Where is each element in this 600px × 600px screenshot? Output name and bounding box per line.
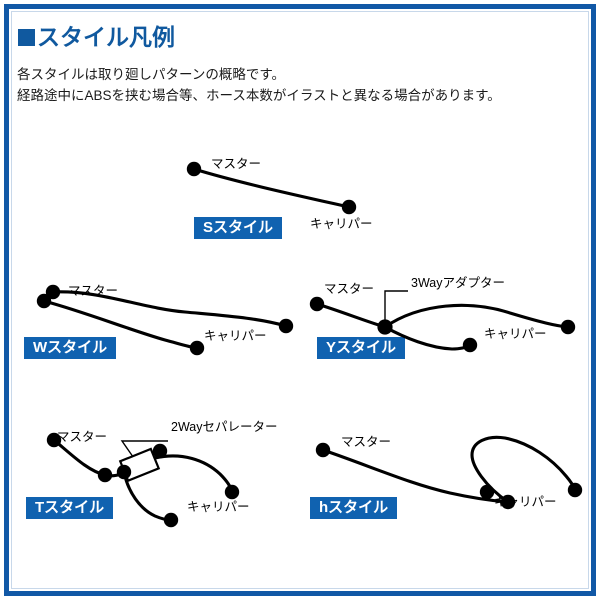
t-style-separator-label: 2Wayセパレーター	[171, 421, 278, 434]
description-line-2: 経路途中にABSを挟む場合等、ホース本数がイラストと異なる場合があります。	[17, 89, 501, 103]
s-style-caliper-label: キャリパー	[310, 218, 373, 231]
y-style-adapter-leader-line	[385, 291, 408, 327]
badge-s-style: Sスタイル	[194, 217, 282, 239]
badge-y-style: Yスタイル	[317, 337, 405, 359]
s-style-hose-1	[194, 169, 349, 207]
t-style-master-label: マスター	[57, 431, 107, 444]
y-style-adapter-label: 3Wayアダプター	[411, 277, 505, 290]
w-style-master-node-2	[37, 294, 51, 308]
page-title: スタイル凡例	[18, 26, 175, 49]
t-style-hose-junction-link	[105, 472, 124, 476]
s-style-master-node	[187, 162, 201, 176]
badge-h-style: hスタイル	[310, 497, 397, 519]
y-style-caliper-node-1	[561, 320, 575, 334]
w-style-caliper-node-2	[190, 341, 204, 355]
s-style-master-label: マスター	[211, 158, 261, 171]
style-legend-page: スタイル凡例 各スタイルは取り廻しパターンの概略です。 経路途中にABSを挟む場…	[0, 0, 600, 600]
t-style-junction-node-2	[117, 465, 131, 479]
t-style-separator-port-node	[153, 444, 167, 458]
y-style-adapter-node	[377, 319, 392, 334]
w-style-master-node-1	[46, 285, 60, 299]
t-style-junction-node-1	[98, 468, 112, 482]
t-style-hose-master-to-junction	[54, 440, 105, 475]
h-style-caliper-node-3	[568, 483, 582, 497]
filled-square-icon	[18, 29, 35, 46]
legend-content: スタイル凡例 各スタイルは取り廻しパターンの概略です。 経路途中にABSを挟む場…	[0, 0, 600, 600]
y-style-caliper-node-2	[463, 338, 477, 352]
h-style-hose-2	[472, 437, 575, 502]
y-style-caliper-label: キャリパー	[484, 328, 547, 341]
page-title-text: スタイル凡例	[37, 24, 175, 50]
s-style-caliper-node	[342, 200, 356, 214]
h-style-hose-1	[323, 450, 508, 502]
description-line-1: 各スタイルは取り廻しパターンの概略です。	[17, 68, 285, 82]
y-style-master-node	[310, 297, 324, 311]
t-style-hose-separator-to-caliper-1	[155, 456, 232, 492]
t-style-caliper-node-2	[164, 513, 178, 527]
badge-w-style: Wスタイル	[24, 337, 116, 359]
h-style-caliper-node-2	[480, 485, 494, 499]
badge-t-style: Tスタイル	[26, 497, 113, 519]
h-style-caliper-label: キャリパー	[494, 496, 557, 509]
y-style-master-label: マスター	[324, 283, 374, 296]
t-style-caliper-node-1	[225, 485, 239, 499]
y-style-hose-adapter-to-caliper-1	[385, 305, 568, 327]
t-style-separator-leader-line	[122, 441, 168, 464]
w-style-caliper-node-1	[279, 319, 293, 333]
y-style-hose-master-to-adapter	[317, 304, 385, 327]
h-style-master-node	[316, 443, 330, 457]
h-style-master-label: マスター	[341, 436, 391, 449]
t-style-separator-box	[120, 449, 158, 481]
w-style-master-label: マスター	[68, 285, 118, 298]
t-style-caliper-label: キャリパー	[187, 501, 250, 514]
t-style-hose-junction-to-caliper-2	[124, 472, 171, 520]
w-style-caliper-label: キャリパー	[204, 330, 267, 343]
